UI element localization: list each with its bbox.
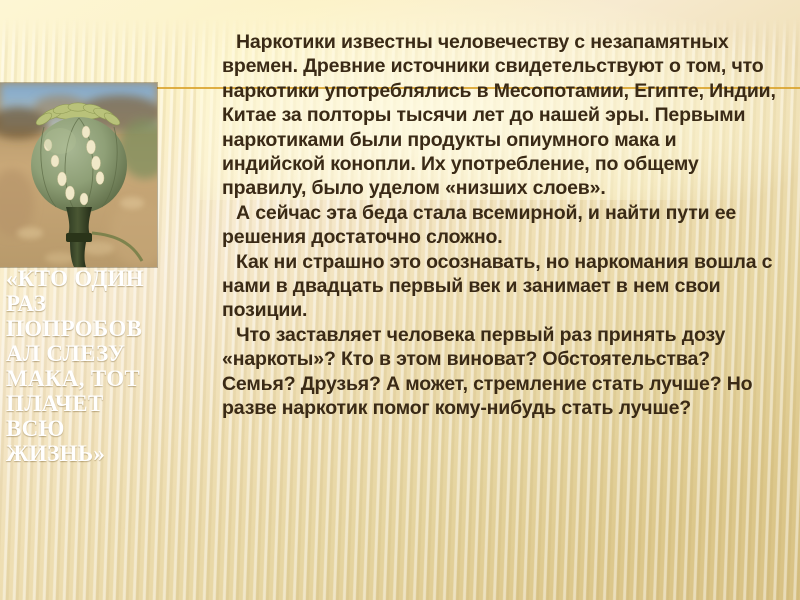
poppy-pod-photo bbox=[0, 83, 157, 267]
body-paragraph-4: Что заставляет человека первый раз приня… bbox=[222, 323, 784, 421]
presentation-slide: «Кто один раз попробовал слезу мака, тот… bbox=[0, 0, 800, 600]
slide-quote: «Кто один раз попробовал слезу мака, тот… bbox=[6, 266, 156, 466]
body-paragraph-1: Наркотики известны человечеству с незапа… bbox=[222, 30, 784, 201]
body-paragraph-2: А сейчас эта беда стала всемирной, и най… bbox=[222, 201, 784, 250]
body-paragraph-3: Как ни страшно это осознавать, но нарком… bbox=[222, 250, 784, 323]
slide-body-text: Наркотики известны человечеству с незапа… bbox=[222, 30, 784, 421]
poppy-pod-illustration bbox=[0, 83, 157, 267]
